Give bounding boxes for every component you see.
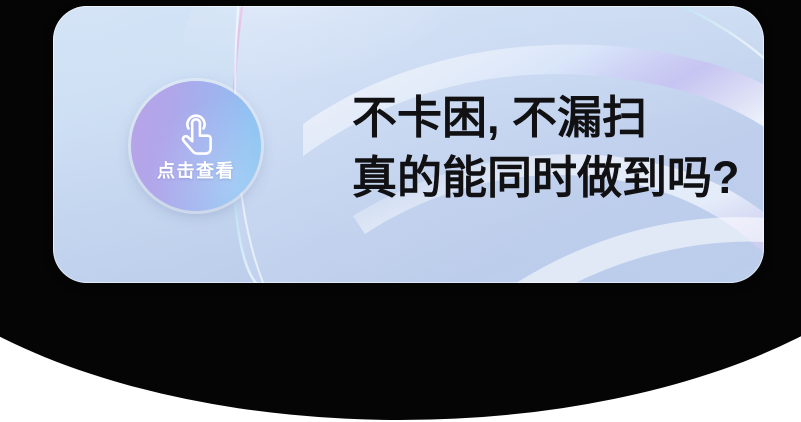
promo-banner: 点击查看 不卡困, 不漏扫 真的能同时做到吗? xyxy=(0,0,801,422)
tap-to-view-label: 点击查看 xyxy=(157,162,235,180)
lens-bottom-edge xyxy=(483,217,764,283)
headline: 不卡困, 不漏扫 真的能同时做到吗? xyxy=(352,88,764,208)
tap-hand-icon xyxy=(174,112,218,158)
headline-line-1: 不卡困, 不漏扫 xyxy=(352,88,764,148)
tap-to-view-button[interactable]: 点击查看 xyxy=(131,81,261,211)
promo-card: 点击查看 不卡困, 不漏扫 真的能同时做到吗? xyxy=(53,6,764,283)
headline-line-2: 真的能同时做到吗? xyxy=(352,148,764,208)
